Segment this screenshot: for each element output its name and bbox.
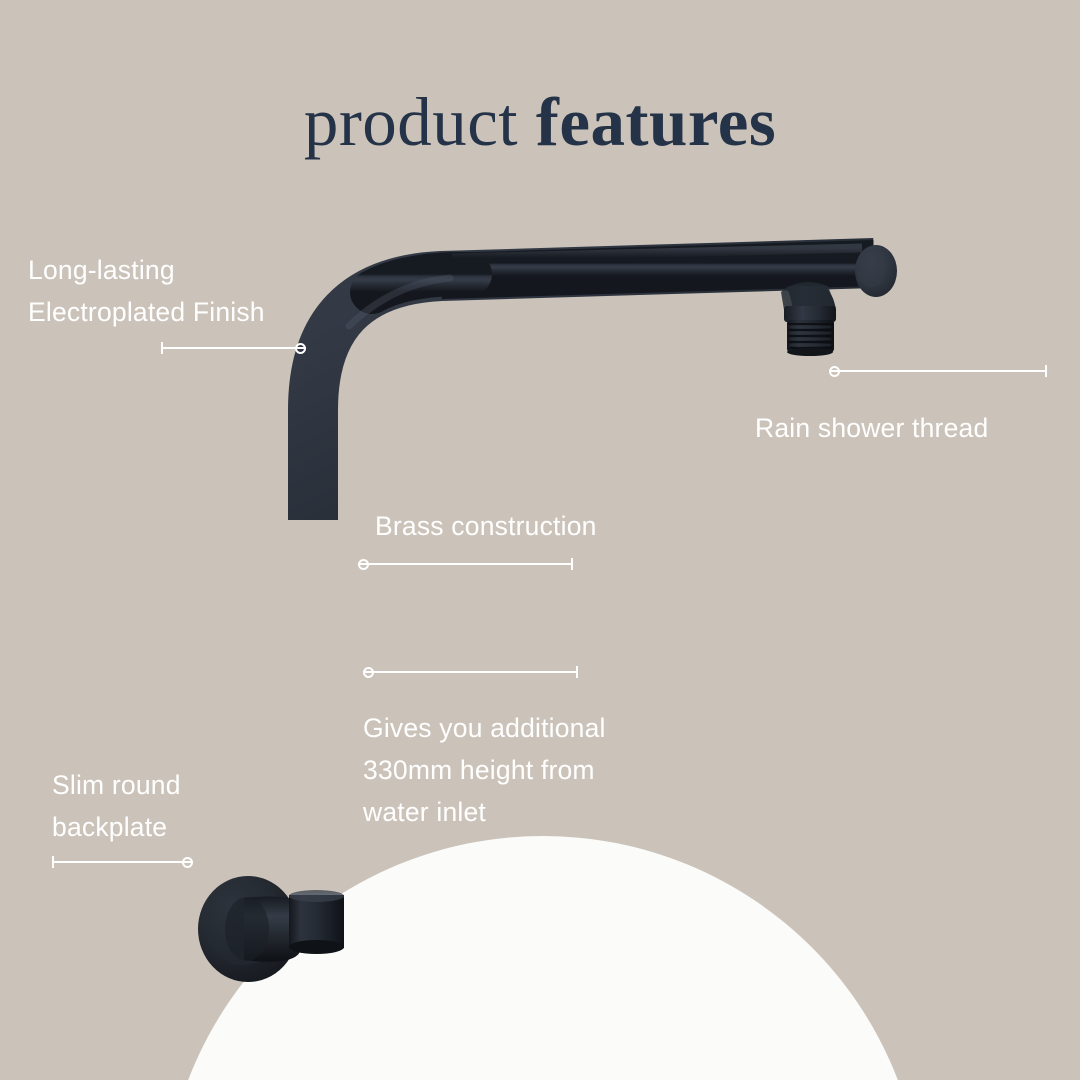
callout-electroplated-finish: Long-lasting Electroplated Finish [28,250,358,334]
title-word-light: product [304,84,518,160]
leader-brass-construction [358,557,573,571]
wall-backplate [198,876,300,982]
leader-ring [295,343,306,354]
leader-rain-shower-thread [829,364,1047,378]
leader-bar [829,370,1047,372]
leader-bar [161,347,306,349]
callout-rain-shower-thread: Rain shower thread [755,408,1075,450]
leader-bar [363,671,578,673]
riser-collar [289,890,344,954]
callout-brass-construction: Brass construction [375,506,715,548]
callout-additional-height: Gives you additional 330mm height from w… [363,708,703,834]
leader-tick [52,856,54,868]
leader-electroplated-finish [161,341,306,355]
product-features-infographic: product features Long-lasting Electropla… [0,0,1080,1080]
leader-ring [829,366,840,377]
leader-additional-height [363,665,578,679]
leader-tick [1045,365,1047,377]
callout-slim-round-backplate: Slim round backplate [52,765,342,849]
arm-end-cap [855,245,897,297]
leader-slim-round-backplate [52,855,193,869]
leader-ring [358,559,369,570]
title-word-bold: features [536,84,776,160]
rain-shower-outlet [781,282,836,356]
leader-tick [576,666,578,678]
leader-ring [182,857,193,868]
page-title: product features [0,88,1080,157]
leader-bar [358,563,573,565]
leader-tick [571,558,573,570]
leader-tick [161,342,163,354]
leader-ring [363,667,374,678]
leader-bar [52,861,193,863]
